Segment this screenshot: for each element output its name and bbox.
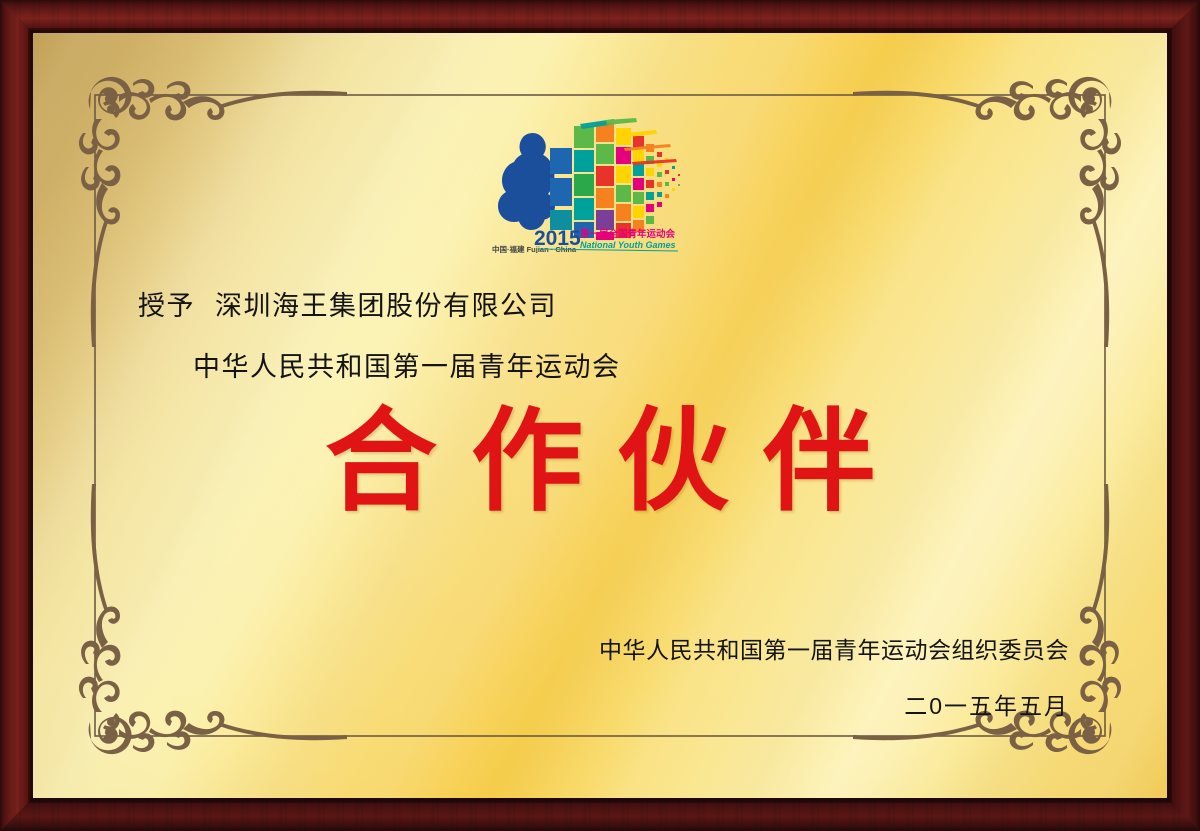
- recipient-name: 深圳海王集团股份有限公司: [215, 291, 557, 321]
- frame-left-stile: [0, 0, 33, 831]
- emblem-english-title: National Youth Games: [580, 240, 676, 250]
- certificate-title: 合作伙伴: [33, 405, 1167, 523]
- games-emblem: 2015 第一届全国青年运动会 National Youth Games 中国·…: [488, 118, 688, 253]
- frame-bottom-rail: [0, 798, 1200, 831]
- plate-content: 2015 第一届全国青年运动会 National Youth Games 中国·…: [33, 33, 1167, 798]
- signature-block: 中华人民共和国第一届青年运动会组织委员会 二0一五年五月: [599, 631, 1069, 721]
- award-line: 授予深圳海王集团股份有限公司: [138, 284, 557, 323]
- issue-date: 二0一五年五月: [599, 687, 1069, 721]
- emblem-host-location: 中国·福建 Fujian · China: [492, 244, 577, 253]
- frame-top-rail: [0, 0, 1200, 33]
- event-name: 中华人民共和国第一届青年运动会: [193, 345, 621, 384]
- emblem-chinese-title: 第一届全国青年运动会: [580, 228, 676, 240]
- frame-right-stile: [1167, 0, 1200, 831]
- certificate-plaque: 2015 第一届全国青年运动会 National Youth Games 中国·…: [0, 0, 1200, 831]
- issuing-organization: 中华人民共和国第一届青年运动会组织委员会: [599, 631, 1069, 665]
- award-prefix: 授予: [138, 291, 195, 321]
